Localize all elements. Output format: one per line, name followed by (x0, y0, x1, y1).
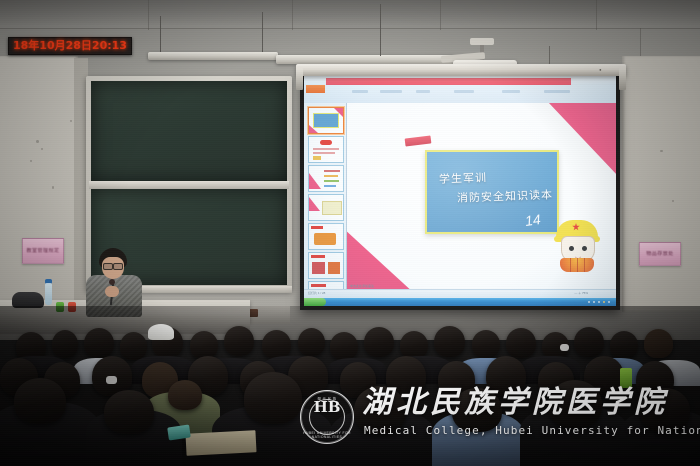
ppt-notes-placeholder[interactable]: 单击此处添加备注 (350, 284, 374, 288)
tray-icon[interactable] (598, 301, 600, 303)
student-head (224, 326, 254, 356)
ppt-thumbnail[interactable] (308, 136, 344, 163)
ppt-file-tab[interactable] (306, 85, 325, 93)
ceiling-shadow (0, 0, 700, 26)
classroom-photo: 教室管理规定 物品存放处 ● (0, 0, 700, 466)
ppt-status-bar: 幻灯片 1 / 28 — ＋ 75% (304, 289, 616, 298)
wall-speck (70, 120, 72, 122)
water-bottle (45, 283, 52, 305)
seal-monogram: HB (301, 400, 353, 415)
ppt-status-zoom: — ＋ 75% (574, 291, 588, 295)
wall-speck (660, 150, 663, 152)
seal-ring-bottom-text: HUBEI UNIVERSITY FOR NATIONALITIES (301, 431, 353, 439)
tray-icon[interactable] (593, 301, 595, 303)
camera-timestamp-text: 18年10月28日20:13 (13, 40, 127, 52)
student-head (84, 328, 114, 358)
watermark-english-title: Medical College, Hubei University for Na… (364, 424, 700, 437)
student-head (104, 390, 154, 434)
collar-line (584, 258, 585, 272)
collar-line (570, 258, 571, 272)
pink-notice-left: 教室管理规定 (22, 238, 64, 264)
ppt-thumbnail-pane[interactable] (304, 103, 347, 290)
university-seal-icon: 湖 北 民 族 HB HUBEI UNIVERSITY FOR NATIONAL… (300, 390, 354, 444)
pink-notice-right-text: 物品存放处 (642, 251, 678, 257)
tray-icon[interactable] (603, 301, 605, 303)
wall-seam (148, 0, 149, 30)
wall-seam (440, 0, 441, 30)
chalkboard-divider-rail (89, 181, 289, 189)
start-button-icon[interactable] (304, 298, 326, 306)
wall-speck (36, 140, 39, 143)
ribbon-chip (544, 90, 570, 93)
slide-red-ribbon-decoration (405, 135, 432, 146)
tray-icon[interactable] (608, 301, 610, 303)
windows-taskbar[interactable] (304, 298, 616, 306)
ppt-thumbnail[interactable] (308, 223, 344, 250)
collar-line (577, 258, 578, 272)
student-head (574, 327, 604, 357)
student-head (644, 329, 673, 358)
ceiling-light-left (148, 52, 278, 60)
projection-screen-surface: 学生军训 消防安全知识读本 14 (304, 76, 616, 306)
student-white-cap (148, 324, 174, 340)
lecturer-glasses-icon (103, 263, 123, 268)
student-head (168, 380, 202, 410)
pink-notice-left-text: 教室管理规定 (25, 248, 61, 254)
lecturer-hands (105, 286, 119, 297)
pink-notice-right: 物品存放处 (639, 242, 681, 266)
ceiling-light-right (276, 55, 462, 64)
chalkboard-panel-upper (91, 81, 287, 181)
ribbon-chip (454, 90, 474, 93)
student-head (52, 330, 78, 358)
slide-corner-pink-bottom-left (347, 228, 415, 290)
watermark: 湖 北 民 族 HB HUBEI UNIVERSITY FOR NATIONAL… (300, 386, 696, 448)
slide-corner-mark: 14 (524, 211, 542, 229)
student-head (330, 332, 358, 360)
projection-screen: 学生军训 消防安全知识读本 14 (300, 72, 620, 310)
ppt-status-left: 幻灯片 1 / 28 (308, 291, 325, 295)
student-head (434, 326, 465, 357)
wall-seam (292, 0, 293, 30)
ppt-slide-canvas[interactable]: 学生军训 消防安全知识读本 14 (347, 103, 616, 290)
roller-brand-label: ● (599, 67, 602, 72)
watermark-chinese-title: 湖北民族学院医学院 (362, 386, 668, 420)
light-hanger-rod (160, 16, 161, 54)
student-head (190, 331, 218, 359)
wall-speck (52, 186, 54, 189)
ribbon-chip (502, 90, 520, 93)
wall-seam (0, 28, 700, 29)
desk-paper (185, 430, 256, 456)
tray-icon[interactable] (588, 301, 590, 303)
ppt-thumbnail[interactable] (308, 165, 344, 192)
ppt-thumbnail[interactable] (308, 252, 344, 279)
student-head (262, 330, 291, 359)
student-head (364, 327, 394, 357)
student-head (14, 378, 66, 424)
ribbon-chip (416, 90, 430, 93)
roller-end-right (619, 68, 626, 90)
ppt-ribbon (304, 85, 616, 104)
mascot-eye-right (582, 246, 587, 251)
student-head (610, 331, 638, 359)
ppt-thumbnail[interactable] (308, 194, 344, 221)
ppt-thumbnail[interactable] (308, 107, 344, 134)
wall-speck (30, 160, 32, 162)
microphone-head-icon (109, 279, 115, 285)
student-head (244, 372, 302, 424)
camera-timestamp: 18年10月28日20:13 (8, 37, 132, 55)
wall-panel-left (0, 56, 78, 306)
mascot-eye-left (569, 246, 574, 251)
power-cable (380, 4, 381, 56)
ribbon-chip (380, 90, 402, 93)
student-head (400, 331, 428, 359)
ribbon-chip (352, 90, 368, 93)
wall-panel-right (622, 56, 700, 312)
slide-title-line-1: 学生军训 (439, 169, 488, 187)
wall-speck (41, 148, 43, 150)
student-head (298, 328, 325, 356)
student-head (120, 332, 147, 360)
wall-seam (596, 0, 597, 30)
slide-title-line-2: 消防安全知识读本 (457, 186, 553, 205)
slide-title-card: 学生军训 消防安全知识读本 14 (425, 150, 559, 234)
projector-screen-roller: ● (296, 64, 626, 76)
wall-speck (672, 200, 674, 202)
student-head (472, 330, 500, 358)
student-face-mask (560, 344, 569, 351)
student-face-mask (106, 376, 117, 384)
mascot-uniform-collar (560, 258, 594, 272)
firefighter-mascot-icon (554, 220, 600, 272)
student-head (506, 328, 536, 358)
roller-end-left (296, 68, 303, 90)
light-hanger-rod (262, 12, 263, 54)
